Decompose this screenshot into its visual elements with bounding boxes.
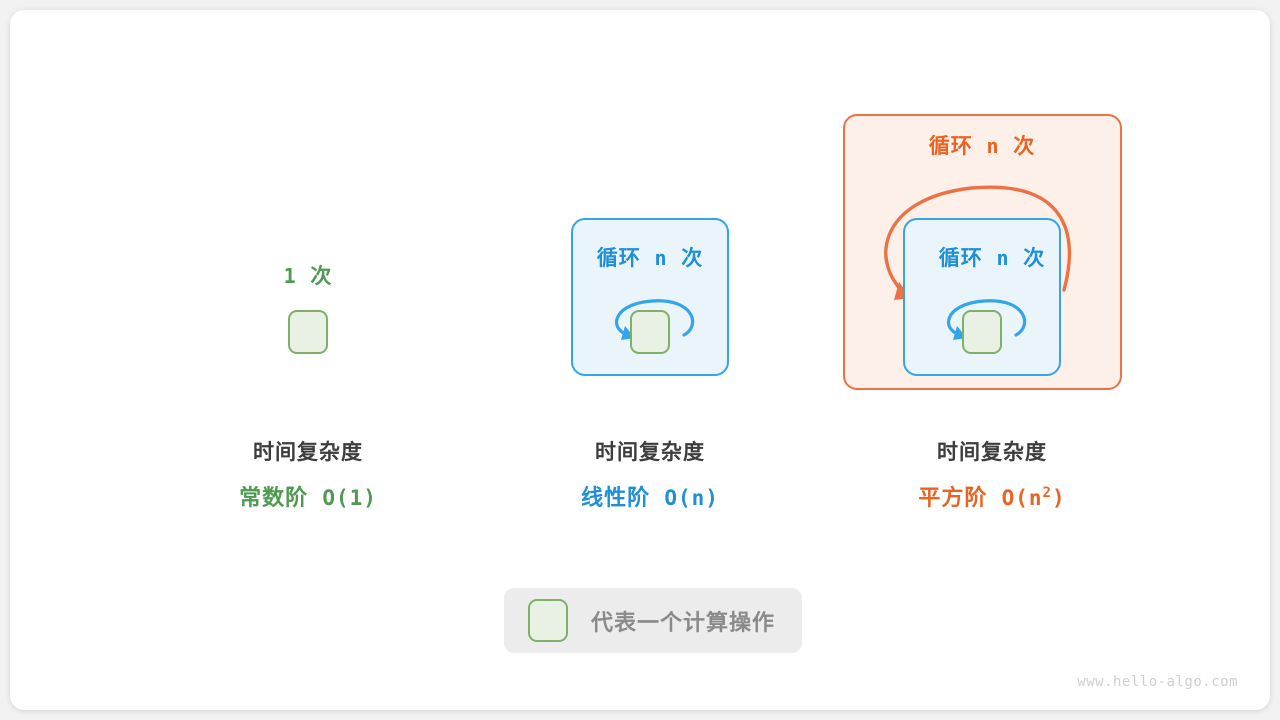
quadratic-order-notation: O(n2) bbox=[1002, 486, 1066, 510]
quadratic-order-name: 平方阶 bbox=[918, 485, 987, 510]
operation-box bbox=[962, 310, 1002, 354]
constant-caption-order: 常数阶 O(1) bbox=[118, 480, 498, 512]
linear-order-name: 线性阶 bbox=[581, 485, 650, 510]
diagram-card: 1 次 时间复杂度 常数阶 O(1) 循环 n 次 时间复杂度 线性阶 O(n)… bbox=[10, 10, 1270, 710]
column-constant: 1 次 时间复杂度 常数阶 O(1) bbox=[118, 10, 498, 710]
quadratic-caption-title: 时间复杂度 bbox=[792, 436, 1192, 466]
legend-swatch-operation bbox=[528, 599, 568, 642]
quadratic-outer-loop-label: 循环 n 次 bbox=[782, 130, 1182, 160]
linear-loop-var: n bbox=[654, 246, 667, 270]
quadratic-inner-loop-var: n bbox=[996, 246, 1009, 270]
constant-order-name: 常数阶 bbox=[239, 485, 308, 510]
column-quadratic: 循环 n 次 循环 n 次 时间复杂度 平方阶 O(n2) bbox=[782, 10, 1182, 710]
quadratic-order-exponent: 2 bbox=[1043, 485, 1052, 501]
constant-caption-title: 时间复杂度 bbox=[118, 436, 498, 466]
linear-loop-prefix: 循环 bbox=[597, 247, 641, 270]
quadratic-order-notation-pre: O(n bbox=[1002, 486, 1043, 510]
quadratic-outer-loop-suffix: 次 bbox=[1013, 135, 1035, 158]
page-background: 1 次 时间复杂度 常数阶 O(1) 循环 n 次 时间复杂度 线性阶 O(n)… bbox=[0, 0, 1280, 720]
watermark: www.hello-algo.com bbox=[1077, 674, 1238, 690]
quadratic-outer-loop-prefix: 循环 bbox=[929, 135, 973, 158]
quadratic-caption-order: 平方阶 O(n2) bbox=[792, 480, 1192, 512]
constant-count-value: 1 bbox=[284, 264, 297, 288]
operation-box bbox=[288, 310, 328, 354]
linear-order-notation: O(n) bbox=[664, 486, 719, 510]
operation-box bbox=[630, 310, 670, 354]
legend: 代表一个计算操作 bbox=[504, 588, 802, 653]
quadratic-inner-loop-prefix: 循环 bbox=[939, 247, 983, 270]
constant-order-notation: O(1) bbox=[322, 486, 377, 510]
constant-count-label: 1 次 bbox=[118, 260, 498, 290]
linear-loop-suffix: 次 bbox=[681, 247, 703, 270]
quadratic-order-notation-post: ) bbox=[1052, 486, 1066, 510]
quadratic-outer-loop-var: n bbox=[986, 134, 999, 158]
constant-count-unit: 次 bbox=[310, 265, 332, 288]
quadratic-inner-loop-label: 循环 n 次 bbox=[792, 242, 1192, 272]
legend-label: 代表一个计算操作 bbox=[591, 605, 775, 637]
quadratic-inner-loop-suffix: 次 bbox=[1023, 247, 1045, 270]
